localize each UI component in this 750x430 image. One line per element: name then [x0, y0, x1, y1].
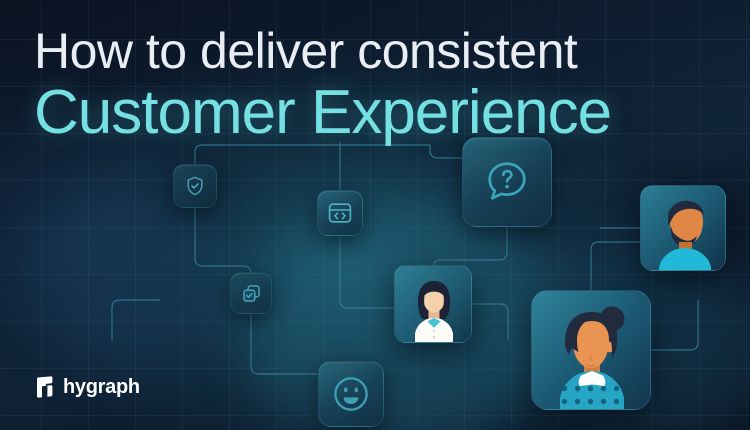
hygraph-mark-icon	[36, 376, 55, 398]
avatar-woman-dark-hair-icon	[395, 266, 472, 343]
avatar-woman-bun-icon	[532, 291, 651, 410]
card-chat-question[interactable]	[462, 137, 552, 227]
card-avatar-woman-dark-hair[interactable]	[394, 265, 472, 343]
brand-logo[interactable]: hygraph	[36, 376, 140, 398]
card-duplicate[interactable]	[230, 272, 272, 314]
code-window-icon	[327, 200, 353, 226]
headline-line-2: Customer Experience	[34, 78, 724, 148]
avatar-man-beard-icon	[641, 186, 726, 271]
shield-check-icon	[184, 175, 206, 197]
card-code-window[interactable]	[317, 190, 363, 236]
card-avatar-man-beard[interactable]	[640, 185, 726, 271]
headline-line-1: How to deliver consistent	[34, 22, 724, 80]
duplicate-check-icon	[241, 283, 262, 304]
card-smiley[interactable]	[318, 361, 384, 427]
smiley-face-icon	[331, 374, 371, 414]
chat-question-icon	[482, 157, 532, 207]
card-shield[interactable]	[173, 164, 217, 208]
page-title: How to deliver consistent Customer Exper…	[34, 22, 724, 148]
banner-canvas: How to deliver consistent Customer Exper…	[0, 0, 750, 430]
card-avatar-woman-bun[interactable]	[531, 290, 651, 410]
brand-name: hygraph	[63, 376, 140, 398]
